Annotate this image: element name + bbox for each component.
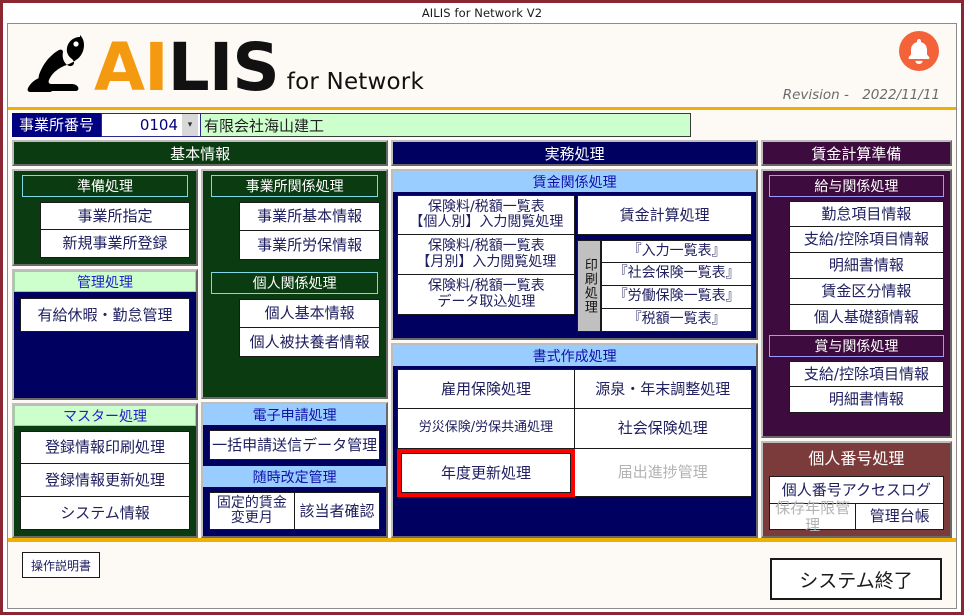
button-kintai-komoku-johou[interactable]: 勤怠項目情報 <box>789 201 944 227</box>
button-yukyu-kintai-kanri[interactable]: 有給休暇・勤怠管理 <box>20 298 190 332</box>
button-kotei-chingin-henkotsuki[interactable]: 固定的賃金 変更月 <box>209 492 295 530</box>
button-jigyosho-shitei[interactable]: 事業所指定 <box>40 202 190 230</box>
button-jigyosho-rouho-johou[interactable]: 事業所労保情報 <box>239 231 380 260</box>
group-jigyosho-kankei: 事業所関係処理 事業所基本情報 事業所労保情報 個人関係処理 個人基本情報 個人… <box>201 169 388 399</box>
office-selector-bar: 事業所番号 0104 ▾ 有限会社海山建工 <box>8 110 956 140</box>
group-jigyosho-title: 事業所関係処理 <box>211 175 378 197</box>
bell-icon <box>898 30 940 72</box>
button-hokenryo-kojinbetsu[interactable]: 保険料/税額一覧表 【個人別】入力閲覧処理 <box>397 195 575 235</box>
group-kojin-kankei-title: 個人関係処理 <box>211 272 378 294</box>
highlight-box-nendo-koshin: 年度更新処理 <box>397 449 574 497</box>
button-shikyu-kojo-komoku-shoyo[interactable]: 支給/控除項目情報 <box>789 361 944 387</box>
chevron-down-icon[interactable]: ▾ <box>182 114 198 136</box>
group-kyuyo-kankei-title: 給与関係処理 <box>769 175 944 197</box>
group-chingin-title: 賃金関係処理 <box>393 171 756 192</box>
notification-button[interactable] <box>896 28 942 74</box>
column-basic-title: 基本情報 <box>12 140 388 166</box>
squirrel-icon <box>26 28 98 102</box>
button-todokede-shinchoku-kanri: 届出進捗管理 <box>575 449 752 497</box>
group-junbi-shori: 準備処理 事業所指定 新規事業所登録 <box>12 169 198 266</box>
title-bar: AILIS for Network V2 <box>3 3 961 23</box>
button-jigyosho-kihon-johou[interactable]: 事業所基本情報 <box>239 202 380 231</box>
button-kojin-kisogaku-johou[interactable]: 個人基礎額情報 <box>789 305 944 331</box>
app-logo: AILIS for Network <box>26 28 424 102</box>
button-shakai-hoken-ichiranhyo[interactable]: 『社会保険一覧表』 <box>601 263 752 286</box>
wordmark: AILIS <box>94 34 279 102</box>
group-chingin-kankei: 賃金関係処理 保険料/税額一覧表 【個人別】入力閲覧処理 保険料/税額一覧表 【… <box>391 169 758 340</box>
button-hokenryo-data-torikomi[interactable]: 保険料/税額一覧表 データ取込処理 <box>397 275 575 315</box>
button-kojin-hifuyosha-johou[interactable]: 個人被扶養者情報 <box>239 328 380 357</box>
group-zuiji-kaitei-title: 随時改定管理 <box>203 466 386 487</box>
revision-date: 2022/11/11 <box>862 87 940 103</box>
button-chingin-kubun-johou[interactable]: 賃金区分情報 <box>789 279 944 305</box>
group-denshi-shinsei: 電子申請処理 一括申請送信データ管理 随時改定管理 固定的賃金 変更月 該当者確… <box>201 402 388 538</box>
group-shoyo-kankei-title: 賞与関係処理 <box>769 335 944 357</box>
button-toroku-johou-koshin[interactable]: 登録情報更新処理 <box>20 464 190 497</box>
button-koyo-hoken-shori[interactable]: 雇用保険処理 <box>397 369 574 409</box>
column-basic-info: 基本情報 準備処理 事業所指定 新規事業所登録 <box>12 140 388 538</box>
logo-subtitle: for Network <box>287 69 424 102</box>
column-jitsumu-title: 実務処理 <box>391 140 758 166</box>
button-kanri-daicho[interactable]: 管理台帳 <box>856 504 944 530</box>
office-name-field: 有限会社海山建工 <box>201 113 691 137</box>
button-rosai-hoken-rouho[interactable]: 労災保険/労保共通処理 <box>397 409 574 449</box>
revision-label: Revision - <box>783 87 849 103</box>
client-area: AILIS for Network Revision - 2022/11/11 … <box>7 23 957 609</box>
help-manual-button[interactable]: 操作説明書 <box>22 552 100 578</box>
group-denshi-title: 電子申請処理 <box>203 404 386 425</box>
group-junbi-title: 準備処理 <box>22 175 188 197</box>
revision-info: Revision - 2022/11/11 <box>783 87 940 103</box>
logo-lis-text: LIS <box>168 29 279 106</box>
office-number-label: 事業所番号 <box>12 113 101 137</box>
logo-ai-text: AI <box>94 29 168 106</box>
office-number-dropdown[interactable]: 0104 ▾ <box>101 113 201 137</box>
system-exit-button[interactable]: システム終了 <box>770 558 942 600</box>
button-gaitousha-kakunin[interactable]: 該当者確認 <box>295 492 381 530</box>
window-title: AILIS for Network V2 <box>422 6 542 20</box>
group-shoshiki-sakusei: 書式作成処理 雇用保険処理 労災保険/労保共通処理 年度更新処理 源泉・年末調整… <box>391 343 758 538</box>
column-chingin-junbi-title: 賃金計算準備 <box>761 140 952 166</box>
button-shinki-jigyosho-toroku[interactable]: 新規事業所登録 <box>40 230 190 258</box>
column-jitsumu-shori: 実務処理 賃金関係処理 保険料/税額一覧表 【個人別】入力閲覧処理 保険料/税額… <box>391 140 758 538</box>
column-chingin-junbi: 賃金計算準備 給与関係処理 勤怠項目情報 支給/控除項目情報 明細書情報 賃金区… <box>761 140 952 538</box>
button-chingin-keisan-shori[interactable]: 賃金計算処理 <box>577 195 752 235</box>
group-kyuyo-shoyo: 給与関係処理 勤怠項目情報 支給/控除項目情報 明細書情報 賃金区分情報 個人基… <box>761 169 952 438</box>
button-kojin-kihon-johou[interactable]: 個人基本情報 <box>239 299 380 328</box>
button-nendo-koshin-shori[interactable]: 年度更新処理 <box>401 453 570 493</box>
group-kojin-bango-shori: 個人番号処理 個人番号アクセスログ 保存年限管理 管理台帳 <box>761 441 952 538</box>
office-number-value: 0104 <box>140 116 178 134</box>
bottom-bar: 操作説明書 システム終了 <box>8 538 956 608</box>
label-insatsu-shori: 印刷処理 <box>577 240 601 332</box>
button-gensen-nenmatsu-chosei[interactable]: 源泉・年末調整処理 <box>575 369 752 409</box>
group-mynumber-title: 個人番号処理 <box>763 443 950 471</box>
group-shoshiki-title: 書式作成処理 <box>393 345 756 366</box>
button-zeigaku-ichiranhyo[interactable]: 『税額一覧表』 <box>601 309 752 332</box>
button-hokenryo-tsukibetsu[interactable]: 保険料/税額一覧表 【月別】入力閲覧処理 <box>397 235 575 275</box>
button-nyuryoku-ichiranhyo[interactable]: 『入力一覧表』 <box>601 240 752 263</box>
button-meisaisho-johou-kyuyo[interactable]: 明細書情報 <box>789 253 944 279</box>
button-system-johou[interactable]: システム情報 <box>20 497 190 530</box>
group-kanri-shori: 管理処理 有給休暇・勤怠管理 <box>12 269 198 400</box>
button-ikkatsu-shinsei-soshin[interactable]: 一括申請送信データ管理 <box>209 430 380 460</box>
button-rodo-hoken-ichiranhyo[interactable]: 『労働保険一覧表』 <box>601 286 752 309</box>
group-master-title: マスター処理 <box>14 405 196 426</box>
application-window: AILIS for Network V2 AILIS for Network <box>0 0 964 615</box>
app-header: AILIS for Network Revision - 2022/11/11 <box>8 24 956 110</box>
main-columns: 基本情報 準備処理 事業所指定 新規事業所登録 <box>8 140 956 538</box>
button-meisaisho-johou-shoyo[interactable]: 明細書情報 <box>789 387 944 413</box>
button-shikyu-kojo-komoku-kyuyo[interactable]: 支給/控除項目情報 <box>789 227 944 253</box>
group-master-shori: マスター処理 登録情報印刷処理 登録情報更新処理 システム情報 <box>12 403 198 538</box>
button-shakai-hoken-shori[interactable]: 社会保険処理 <box>575 409 752 449</box>
group-kanri-title: 管理処理 <box>14 271 196 292</box>
button-toroku-johou-insatsu[interactable]: 登録情報印刷処理 <box>20 431 190 464</box>
button-hozon-nengen-kanri: 保存年限管理 <box>769 504 857 530</box>
